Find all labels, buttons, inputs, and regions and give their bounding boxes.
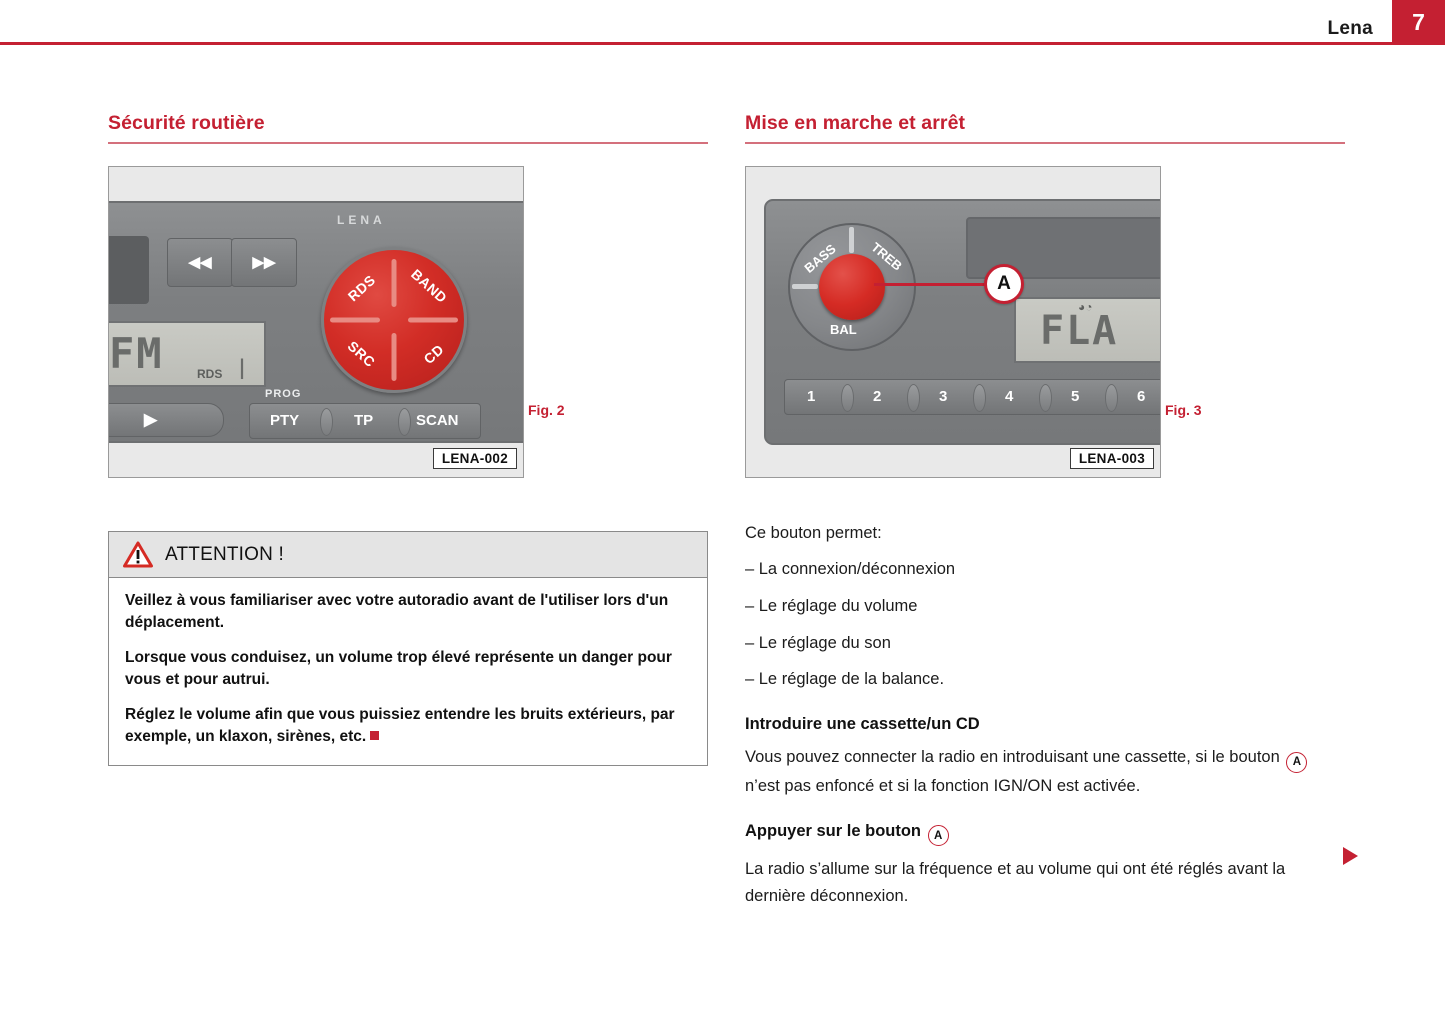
- preset-button-2[interactable]: 2: [873, 388, 881, 405]
- attention-paragraph: Réglez le volume afin que vous puissiez …: [125, 704, 691, 749]
- list-item: – Le réglage du volume: [745, 593, 1345, 620]
- list-item: – Le réglage du son: [745, 630, 1345, 657]
- attention-box: ATTENTION ! Veillez à vous familiariser …: [108, 531, 708, 766]
- heading-divider: [745, 142, 1345, 144]
- function-button-strip: PTY TP SCAN: [249, 403, 481, 439]
- rocker-left-ridge: [330, 317, 380, 322]
- figure-3-caption: Fig. 3: [1165, 402, 1202, 418]
- cassette-text-after: n’est pas enfoncé et si la fonction IGN/…: [745, 777, 1140, 795]
- radio-display: RN FM RDS |: [108, 321, 266, 387]
- attention-body: Veillez à vous familiariser avec votre a…: [109, 578, 707, 765]
- list-item: – La connexion/déconnexion: [745, 556, 1345, 583]
- scan-button[interactable]: SCAN: [416, 412, 459, 429]
- rocker-label-src: SRC: [345, 337, 379, 370]
- button-separator: [907, 384, 920, 412]
- figure-2-id: LENA-002: [433, 448, 517, 469]
- attention-paragraph: Lorsque vous conduisez, un volume trop é…: [125, 647, 691, 692]
- callout-a: A: [984, 264, 1024, 304]
- right-column: Mise en marche et arrêt BASS TREB BAL ◕◔…: [745, 112, 1345, 920]
- prog-label: PROG: [265, 388, 301, 400]
- cassette-slot: [108, 236, 149, 304]
- inline-marker-a: A: [928, 825, 949, 846]
- radio-brand-logo: LENA: [337, 213, 386, 227]
- button-separator: [1039, 384, 1052, 412]
- button-separator: [973, 384, 986, 412]
- figure-2: LENA ◀◀ ▶▶ RN FM RDS | PROG ▶ PTY TP SCA…: [108, 166, 524, 478]
- rocker-right-ridge: [408, 317, 458, 322]
- rocker-label-band: BAND: [408, 265, 450, 305]
- radio-display: ◕◔ FLA: [1014, 297, 1161, 363]
- preset-button-6[interactable]: 6: [1137, 388, 1145, 405]
- knob-tick-left: [792, 284, 818, 289]
- attention-paragraph-text: Réglez le volume afin que vous puissiez …: [125, 706, 675, 745]
- volume-knob[interactable]: BASS TREB BAL: [788, 223, 916, 351]
- figure-2-caption: Fig. 2: [528, 402, 565, 418]
- rewind-button[interactable]: ◀◀: [167, 238, 233, 287]
- rocker-down-ridge: [392, 333, 397, 381]
- left-column: Sécurité routière LENA ◀◀ ▶▶ RN FM RDS |…: [108, 112, 708, 478]
- intro-text: Ce bouton permet:: [745, 520, 1345, 547]
- preset-button-1[interactable]: 1: [807, 388, 815, 405]
- display-sound-mode: FLA: [1040, 311, 1118, 351]
- button-separator: [841, 384, 854, 412]
- page-header: Lena 7: [0, 0, 1445, 44]
- continuation-arrow-icon: [1343, 847, 1358, 865]
- power-volume-button[interactable]: [819, 254, 885, 320]
- eject-button[interactable]: ▶: [108, 403, 224, 437]
- knob-label-bal: BAL: [830, 322, 857, 337]
- inline-marker-a: A: [1286, 752, 1307, 773]
- figure-3-id: LENA-003: [1070, 448, 1154, 469]
- cassette-paragraph: Vous pouvez connecter la radio en introd…: [745, 744, 1345, 800]
- display-signal-bar: |: [236, 355, 250, 379]
- figure-3: BASS TREB BAL ◕◔ FLA 1 2 3 4 5 6: [745, 166, 1161, 478]
- manual-title: Lena: [1327, 18, 1373, 40]
- display-rds-label: RDS: [197, 367, 222, 381]
- button-separator: [398, 408, 411, 436]
- button-separator: [1105, 384, 1118, 412]
- four-way-rocker[interactable]: RDS BAND SRC CD: [321, 247, 467, 393]
- fast-forward-button[interactable]: ▶▶: [231, 238, 297, 287]
- subheading-press-button: Appuyer sur le bouton A: [745, 822, 1345, 847]
- attention-paragraph: Veillez à vous familiariser avec votre a…: [125, 590, 691, 635]
- rocker-label-rds: RDS: [345, 271, 379, 304]
- preset-button-5[interactable]: 5: [1071, 388, 1079, 405]
- list-item: – Le réglage de la balance.: [745, 666, 1345, 693]
- attention-header: ATTENTION !: [109, 532, 707, 578]
- section-heading-safety: Sécurité routière: [108, 112, 708, 142]
- display-band-text: FM: [109, 333, 164, 375]
- press-paragraph: La radio s’allume sur la fréquence et au…: [745, 856, 1345, 909]
- warning-triangle-icon: [123, 541, 153, 568]
- preset-button-4[interactable]: 4: [1005, 388, 1013, 405]
- subheading-insert-cassette: Introduire une cassette/un CD: [745, 715, 1345, 734]
- section-heading-power: Mise en marche et arrêt: [745, 112, 1345, 142]
- page-number: 7: [1392, 0, 1445, 45]
- radio-unit-body: LENA ◀◀ ▶▶ RN FM RDS | PROG ▶ PTY TP SCA…: [108, 201, 524, 443]
- rocker-label-cd: CD: [420, 340, 446, 366]
- pty-button[interactable]: PTY: [270, 412, 299, 429]
- button-separator: [320, 408, 333, 436]
- rocker-up-ridge: [392, 259, 397, 307]
- attention-title: ATTENTION !: [165, 544, 284, 566]
- knob-tick-top: [849, 227, 854, 253]
- preset-button-3[interactable]: 3: [939, 388, 947, 405]
- end-of-section-marker: [370, 731, 379, 740]
- tp-button[interactable]: TP: [354, 412, 373, 429]
- radio-unit-body: BASS TREB BAL ◕◔ FLA 1 2 3 4 5 6: [764, 199, 1161, 445]
- subheading-press-text: Appuyer sur le bouton: [745, 822, 921, 840]
- header-divider: [0, 42, 1445, 45]
- right-column-body: Ce bouton permet: – La connexion/déconne…: [745, 520, 1345, 910]
- cassette-text-before: Vous pouvez connecter la radio en introd…: [745, 748, 1280, 766]
- preset-button-strip: 1 2 3 4 5 6: [784, 379, 1161, 415]
- heading-divider: [108, 142, 708, 144]
